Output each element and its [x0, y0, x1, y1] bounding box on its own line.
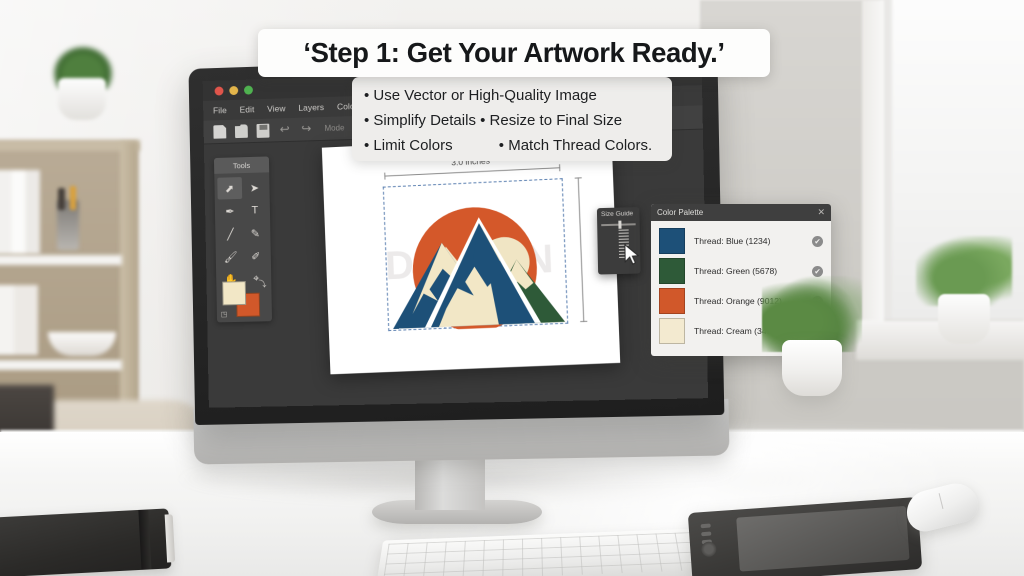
- page-title: ‘Step 1: Get Your Artwork Ready.’: [303, 37, 724, 69]
- tip-text: • Simplify Details: [364, 112, 476, 129]
- line-tool[interactable]: ╱: [218, 223, 242, 245]
- tip-line-2: • Simplify Details • Resize to Final Siz…: [364, 108, 660, 133]
- pencil: [70, 186, 76, 210]
- notebook: [0, 508, 171, 576]
- redo-arrow-icon[interactable]: ↪: [300, 122, 313, 135]
- monitor-stand: [415, 452, 485, 510]
- tablet-active-area[interactable]: [736, 506, 909, 572]
- check-icon[interactable]: ✔: [812, 236, 823, 247]
- close-icon[interactable]: ✕: [817, 208, 825, 217]
- mode-label: Mode: [324, 123, 344, 133]
- tools-grid: ⬈ ➤ ✒ T ╱ ✎ 🖌 ✐ ✋ ⌖: [214, 172, 271, 294]
- maximize-button[interactable]: [244, 85, 253, 94]
- brush-tool[interactable]: 🖌: [219, 245, 243, 267]
- foreground-color-swatch[interactable]: [222, 281, 246, 305]
- notebook-elastic-band: [138, 509, 151, 569]
- shelf-plant-pot: [58, 78, 106, 120]
- step-title-banner: ‘Step 1: Get Your Artwork Ready.’: [258, 29, 770, 77]
- check-icon[interactable]: ✔: [812, 266, 823, 277]
- mouse-cursor-icon: [624, 243, 641, 266]
- tip-text: • Resize to Final Size: [480, 108, 622, 133]
- desk-plant-pot: [782, 340, 842, 396]
- tools-panel: Tools ⬈ ➤ ✒ T ╱ ✎ 🖌 ✐ ✋ ⌖ ⤵ ◳: [214, 156, 272, 322]
- bookshelf-board: [0, 255, 122, 265]
- list-item[interactable]: Thread: Blue (1234) ✔: [659, 226, 823, 256]
- tools-panel-title: Tools: [214, 156, 269, 173]
- bookshelf-top: [0, 140, 140, 151]
- color-palette-titlebar: Color Palette ✕: [651, 204, 831, 221]
- windowsill-plant-pot: [938, 294, 990, 344]
- thread-swatch-green[interactable]: [659, 258, 685, 284]
- size-guide-slider-knob[interactable]: [618, 221, 621, 229]
- tips-callout-card: • Use Vector or High-Quality Image • Sim…: [352, 77, 672, 161]
- pen: [58, 188, 65, 210]
- thread-swatch-orange[interactable]: [659, 288, 685, 314]
- books: [0, 170, 40, 254]
- new-document-icon[interactable]: [213, 124, 226, 138]
- size-guide-title: Size Guide: [597, 207, 640, 218]
- bookshelf-board: [0, 360, 122, 370]
- thread-swatch-blue[interactable]: [659, 228, 685, 254]
- tip-text: • Match Thread Colors.: [499, 133, 652, 158]
- tip-text: • Use Vector or High-Quality Image: [364, 87, 597, 104]
- menu-item-layers[interactable]: Layers: [298, 102, 324, 113]
- pencil-tool[interactable]: ✎: [243, 222, 267, 244]
- direct-selection-tool[interactable]: ➤: [242, 176, 266, 198]
- marker-tool[interactable]: ✐: [244, 245, 268, 267]
- tip-line-3: • Limit Colors • Match Thread Colors.: [364, 133, 660, 158]
- open-folder-icon[interactable]: [235, 124, 248, 138]
- artwork-selection-box[interactable]: [383, 178, 568, 331]
- menu-item-view[interactable]: View: [267, 103, 286, 113]
- mountain-logo-artwork[interactable]: [384, 179, 569, 332]
- reset-colors-icon[interactable]: ◳: [221, 310, 228, 318]
- thread-swatch-cream[interactable]: [659, 318, 685, 344]
- thread-label: Thread: Blue (1234): [694, 236, 803, 246]
- workspace-scene: File Edit View Layers Colors Export ↩ ↪ …: [0, 0, 1024, 576]
- mouse-button-seam: [939, 493, 944, 509]
- tip-text: • Limit Colors: [364, 137, 453, 154]
- books: [0, 285, 38, 355]
- minimize-button[interactable]: [229, 86, 238, 95]
- close-button[interactable]: [215, 86, 224, 95]
- color-swatches: ⤵ ◳: [222, 281, 266, 318]
- save-disk-icon[interactable]: [256, 123, 269, 137]
- menu-item-file[interactable]: File: [213, 105, 227, 115]
- thread-label: Thread: Green (5678): [694, 266, 803, 276]
- selection-tool[interactable]: ⬈: [217, 177, 241, 199]
- tip-line-1: • Use Vector or High-Quality Image: [364, 83, 660, 108]
- swap-colors-icon[interactable]: ⤵: [258, 279, 266, 290]
- color-palette-title: Color Palette: [657, 208, 703, 217]
- size-guide-panel[interactable]: Size Guide: [597, 207, 641, 274]
- canvas-artboard[interactable]: DESIGN 3.0 inches Chest shirt: [322, 134, 620, 375]
- window-frame: [862, 0, 884, 326]
- undo-arrow-icon[interactable]: ↩: [278, 123, 291, 136]
- pen-tool[interactable]: ✒: [218, 200, 242, 222]
- type-tool[interactable]: T: [243, 199, 267, 221]
- menu-item-edit[interactable]: Edit: [240, 104, 255, 114]
